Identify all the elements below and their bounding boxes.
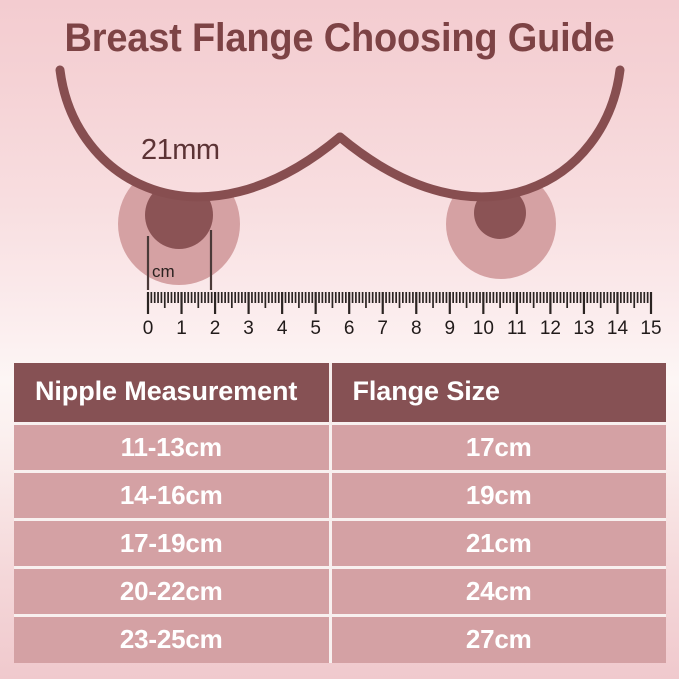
ruler-number-0: 0 — [143, 318, 154, 340]
cell-nipple-measurement: 11-13cm — [14, 423, 330, 471]
table-row: 23-25cm27cm — [14, 615, 666, 663]
column-header-flange-size: Flange Size — [330, 363, 666, 423]
table-row: 17-19cm21cm — [14, 519, 666, 567]
ruler-number-15: 15 — [640, 318, 661, 340]
ruler-ticks — [148, 292, 651, 314]
cell-flange-size: 17cm — [330, 423, 666, 471]
page-title: Breast Flange Choosing Guide — [17, 16, 662, 61]
ruler-number-11: 11 — [507, 318, 527, 340]
ruler-number-1: 1 — [176, 318, 187, 340]
flange-size-table: Nipple Measurement Flange Size 11-13cm17… — [14, 363, 666, 663]
ruler-number-9: 9 — [445, 318, 456, 340]
infographic-page: Breast Flange Choosing Guide 21mm cm 012… — [0, 0, 679, 679]
ruler-unit-label: cm — [152, 262, 175, 282]
ruler-number-3: 3 — [243, 318, 254, 340]
cell-flange-size: 19cm — [330, 471, 666, 519]
cell-flange-size: 27cm — [330, 615, 666, 663]
ruler-number-7: 7 — [377, 318, 388, 340]
cell-nipple-measurement: 17-19cm — [14, 519, 330, 567]
ruler-number-12: 12 — [540, 318, 561, 340]
cell-nipple-measurement: 20-22cm — [14, 567, 330, 615]
cell-nipple-measurement: 14-16cm — [14, 471, 330, 519]
table-header-row: Nipple Measurement Flange Size — [14, 363, 666, 423]
right-breast-curve — [340, 70, 620, 197]
ruler-number-13: 13 — [573, 318, 594, 340]
table-row: 14-16cm19cm — [14, 471, 666, 519]
ruler-number-10: 10 — [473, 318, 494, 340]
ruler-number-8: 8 — [411, 318, 422, 340]
breast-measurement-illustration: Breast Flange Choosing Guide 21mm cm 012… — [0, 0, 679, 352]
table-row: 11-13cm17cm — [14, 423, 666, 471]
table-header: Nipple Measurement Flange Size — [14, 363, 666, 423]
ruler-number-2: 2 — [210, 318, 221, 340]
cell-flange-size: 21cm — [330, 519, 666, 567]
table-body: 11-13cm17cm14-16cm19cm17-19cm21cm20-22cm… — [14, 423, 666, 663]
column-header-nipple-measurement: Nipple Measurement — [14, 363, 330, 423]
cell-flange-size: 24cm — [330, 567, 666, 615]
ruler-number-6: 6 — [344, 318, 355, 340]
cell-nipple-measurement: 23-25cm — [14, 615, 330, 663]
ruler-number-4: 4 — [277, 318, 288, 340]
ruler-number-14: 14 — [607, 318, 628, 340]
ruler-number-5: 5 — [310, 318, 321, 340]
nipple-size-label: 21mm — [141, 134, 220, 167]
table-row: 20-22cm24cm — [14, 567, 666, 615]
